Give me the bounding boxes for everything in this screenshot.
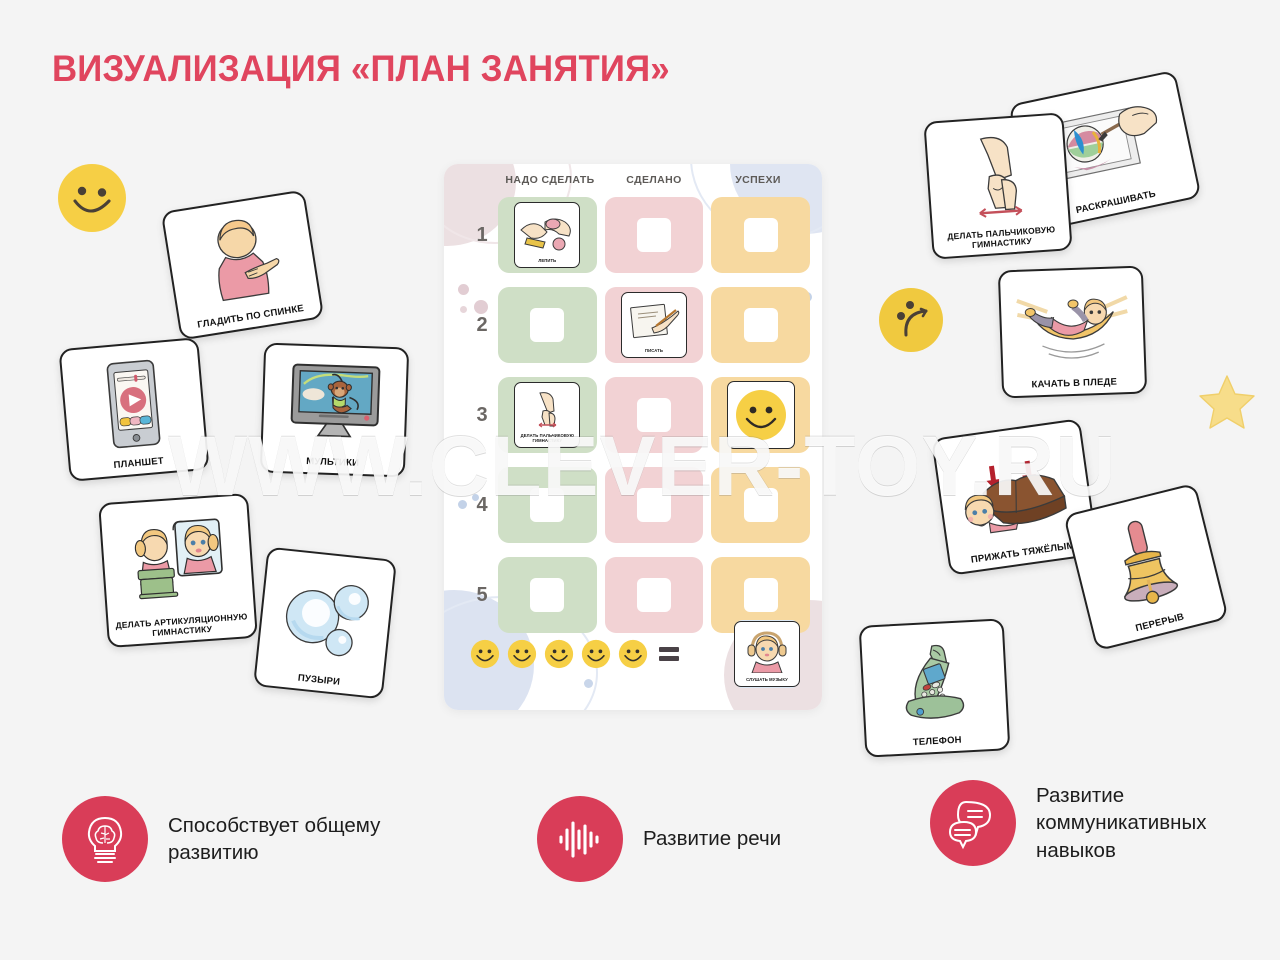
reward-prize-slot[interactable]: СЛУШАТЬ МУЗЫКУ [734,620,800,688]
reward-smiley-icon-4[interactable] [581,639,611,669]
card-back-rub[interactable]: ГЛАДИТЬ ПО СПИНКЕ [161,189,325,340]
card-cartoons[interactable]: МУЛЬТИКИ [260,343,409,478]
cell-success-1[interactable] [711,197,810,273]
lesson-plan-board: НАДО СДЕЛАТЬ СДЕЛАНО УСПЕХИ 1 [444,164,822,710]
pictogram-label: СЛУШАТЬ МУЗЫКУ [737,678,797,683]
heavy-blanket-icon [940,428,1088,556]
benefit-speech-development: Развитие речи [537,796,867,882]
empty-slot[interactable] [744,488,778,522]
page-title: ВИЗУАЛИЗАЦИЯ «ПЛАН ЗАНЯТИЯ» [52,48,670,90]
empty-slot[interactable] [637,218,671,252]
tablet-icon [67,347,200,463]
sculpt-icon [517,205,577,259]
hand-fingers-icon [517,385,577,434]
empty-slot[interactable] [637,398,671,432]
row-number: 1 [466,224,498,247]
empty-slot[interactable] [530,308,564,342]
bubbles-icon [263,556,388,680]
row-number: 4 [466,494,498,517]
sad-face-icon [876,285,946,360]
cell-todo-1[interactable]: ЛЕПИТЬ [498,197,597,273]
reward-smiley-icon-5[interactable] [618,639,648,669]
benefits-row: Способствует общему развитию Развитие [0,780,1280,910]
pictogram-label: ЛЕПИТЬ [517,259,577,264]
board-row: 2 [466,282,810,368]
empty-slot[interactable] [637,578,671,612]
board-row: 3 [466,372,810,458]
cell-done-2[interactable]: ПИСАТЬ [605,287,704,363]
empty-slot[interactable] [530,578,564,612]
card-phone[interactable]: ТЕЛЕФОН [859,618,1011,757]
star-icon [1196,370,1258,437]
brain-bulb-icon [62,796,148,882]
pictogram-card-sculpt[interactable]: ЛЕПИТЬ [514,202,580,268]
cell-done-1[interactable] [605,197,704,273]
board-row: 1 [466,192,810,278]
benefit-general-development: Способствует общему развитию [62,796,462,882]
pictogram-card-write[interactable]: ПИСАТЬ [621,292,687,358]
tv-cartoon-icon [268,352,401,459]
reward-smiley-icon-2[interactable] [507,639,537,669]
column-header-success: УСПЕХИ [706,174,810,186]
cell-todo-3[interactable]: ДЕЛАТЬ ПАЛЬЧИКОВУЮ ГИМНАСТИКУ [498,377,597,453]
smiley-face-icon [57,163,127,238]
row-number: 2 [466,314,498,337]
board-row: 4 [466,462,810,548]
reward-smiley-icon-1[interactable] [470,639,500,669]
row-number: 5 [466,584,498,607]
hammock-icon [1006,275,1138,380]
pictogram-card-listen-music[interactable]: СЛУШАТЬ МУЗЫКУ [734,621,800,687]
speech-bubbles-icon [930,780,1016,866]
card-finger-gymnastics[interactable]: ДЕЛАТЬ ПАЛЬЧИКОВУЮ ГИМНАСТИКУ [923,112,1072,259]
pictogram-label: ПИСАТЬ [624,349,684,354]
empty-slot[interactable] [744,308,778,342]
hand-fingers-icon [932,122,1063,232]
cell-done-4[interactable] [605,467,704,543]
pictogram-card-smiley-reward[interactable] [727,381,795,449]
empty-slot[interactable] [744,218,778,252]
pictogram-card-finger-gym[interactable]: ДЕЛАТЬ ПАЛЬЧИКОВУЮ ГИМНАСТИКУ [514,382,580,448]
benefit-label: Способствует общему развитию [168,812,462,867]
column-header-todo: НАДО СДЕЛАТЬ [498,174,602,186]
cell-success-2[interactable] [711,287,810,363]
cell-done-3[interactable] [605,377,704,453]
card-rock-in-blanket[interactable]: КАЧАТЬ В ПЛЕДЕ [998,266,1147,399]
board-column-headers: НАДО СДЕЛАТЬ СДЕЛАНО УСПЕХИ [498,174,810,186]
empty-slot[interactable] [637,488,671,522]
empty-slot[interactable] [744,578,778,612]
soundwave-icon [537,796,623,882]
benefit-communication-skills: Развитие коммуникативных навыков [930,780,1260,866]
back-rub-icon [170,200,313,322]
benefit-label: Развитие коммуникативных навыков [1036,782,1260,864]
mirror-girl-icon [107,502,248,620]
cell-success-4[interactable] [711,467,810,543]
empty-slot[interactable] [530,488,564,522]
headphones-girl-icon [737,624,797,678]
row-number: 3 [466,404,498,427]
card-tablet[interactable]: ПЛАНШЕТ [58,337,209,482]
board-grid: 1 [466,192,810,642]
benefit-label: Развитие речи [643,825,781,852]
cell-todo-2[interactable] [498,287,597,363]
card-articulation-gymnastics[interactable]: ДЕЛАТЬ АРТИКУЛЯЦИОННУЮ ГИМНАСТИКУ [98,493,258,648]
smiley-face-icon [734,388,788,442]
reward-strip: СЛУШАТЬ МУЗЫКУ [470,620,800,688]
phone-icon [867,628,1001,739]
cell-todo-4[interactable] [498,467,597,543]
cell-success-3[interactable] [711,377,810,453]
infographic-stage: ВИЗУАЛИЗАЦИЯ «ПЛАН ЗАНЯТИЯ» ГЛАДИТЬ ПО С… [0,0,1280,960]
pictogram-label: ДЕЛАТЬ ПАЛЬЧИКОВУЮ ГИМНАСТИКУ [517,434,577,444]
card-bubbles[interactable]: ПУЗЫРИ [253,547,397,700]
column-header-done: СДЕЛАНО [602,174,706,186]
equals-sign-icon [659,647,679,661]
writing-icon [624,295,684,349]
reward-smiley-icon-3[interactable] [544,639,574,669]
